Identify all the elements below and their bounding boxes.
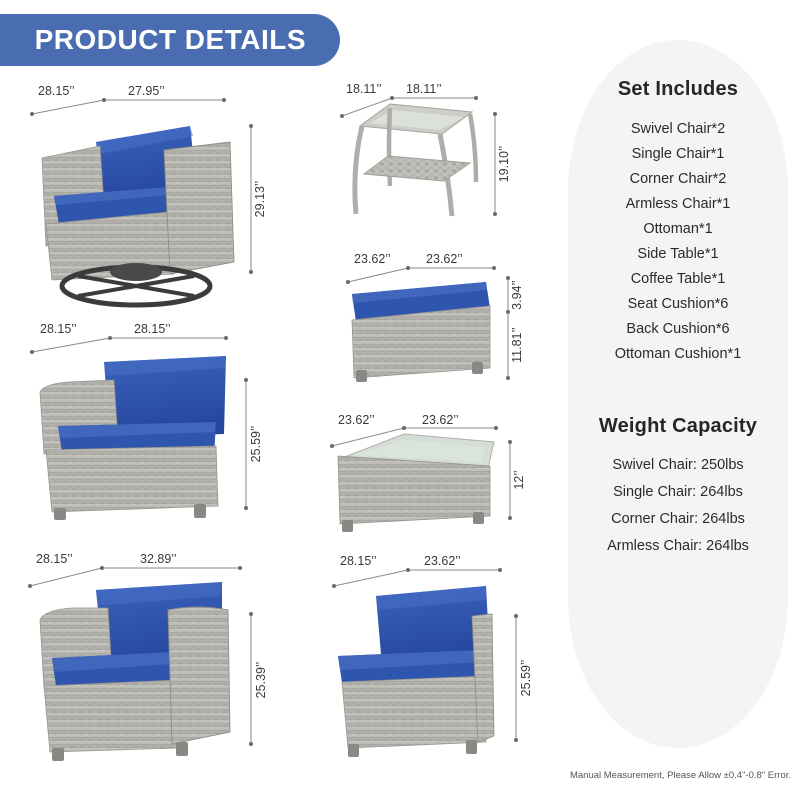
dimension-line-right xyxy=(514,614,518,742)
list-item: Corner Chair*2 xyxy=(578,167,778,192)
dim-label-depth: 28.15’’ xyxy=(36,552,73,566)
right-armrest xyxy=(164,142,234,274)
dim-label-depth: 28.15’’ xyxy=(40,322,77,336)
dim-label-cushion-height: 3.94’’ xyxy=(510,280,524,310)
dim-label-width: 27.95’’ xyxy=(128,84,165,98)
foot-right xyxy=(472,362,483,374)
list-item: Single Chair: 264lbs xyxy=(578,479,778,506)
table-body xyxy=(338,456,490,524)
dim-label-depth: 23.62’’ xyxy=(338,413,375,427)
foot-right xyxy=(194,504,206,518)
list-item: Side Table*1 xyxy=(578,242,778,267)
foot-left xyxy=(52,748,64,761)
page-header-banner: PRODUCT DETAILS xyxy=(0,14,340,66)
chair-base xyxy=(46,446,218,512)
dim-label-height: 29.13’’ xyxy=(253,181,267,218)
list-item: Armless Chair: 264lbs xyxy=(578,533,778,560)
dimension-line-right xyxy=(244,378,248,510)
foot-left xyxy=(54,508,66,520)
product-single-chair: 28.15’’ 32.89’’ 25.39’’ xyxy=(16,552,291,777)
dim-label-height: 25.59’’ xyxy=(249,426,263,463)
list-item: Corner Chair: 264lbs xyxy=(578,506,778,533)
dim-label-depth: 28.15’’ xyxy=(38,84,75,98)
right-armrest xyxy=(168,607,230,744)
dim-label-depth: 23.62’’ xyxy=(354,252,391,266)
list-item: Coffee Table*1 xyxy=(578,267,778,292)
dim-label-width: 32.89’’ xyxy=(140,552,177,566)
dimension-line-top xyxy=(332,568,502,588)
list-item: Ottoman Cushion*1 xyxy=(578,342,778,367)
info-panel: Set Includes Swivel Chair*2 Single Chair… xyxy=(568,40,788,748)
dim-label-width: 23.62’’ xyxy=(426,252,463,266)
dim-label-height: 25.39’’ xyxy=(254,662,268,699)
list-item: Armless Chair*1 xyxy=(578,192,778,217)
dimension-line-top xyxy=(346,266,496,284)
product-swivel-chair: 28.15’’ 27.95’’ 29.13’’ xyxy=(18,84,288,314)
dim-label-height: 19.10’’ xyxy=(497,146,511,183)
dimension-line-right xyxy=(249,612,253,746)
foot-right xyxy=(466,740,477,754)
product-side-table: 18.11’’ 18.11’’ 19.10’’ xyxy=(330,82,545,232)
page-title: PRODUCT DETAILS xyxy=(35,24,306,56)
list-item: Swivel Chair*2 xyxy=(578,117,778,142)
dim-label-height: 12’’ xyxy=(512,470,526,489)
foot-right xyxy=(176,742,188,756)
chair-base xyxy=(44,680,178,752)
list-item: Swivel Chair: 250lbs xyxy=(578,452,778,479)
list-item: Single Chair*1 xyxy=(578,142,778,167)
leg-front-left xyxy=(355,126,362,214)
dim-label-width: 23.62’’ xyxy=(422,413,459,427)
foot-left xyxy=(348,744,359,757)
set-includes-heading: Set Includes xyxy=(578,78,778,101)
product-illustrations-area: 28.15’’ 27.95’’ 29.13’’ xyxy=(0,72,556,800)
dim-label-height: 11.81’’ xyxy=(510,327,524,363)
dim-label-height: 25.59’’ xyxy=(519,660,533,697)
dim-label-width: 28.15’’ xyxy=(134,322,171,336)
lower-shelf xyxy=(364,156,470,181)
measurement-disclaimer: Manual Measurement, Please Allow ±0.4"-0… xyxy=(568,770,793,781)
leg-back-right xyxy=(470,114,476,182)
dim-label-depth: 18.11’’ xyxy=(346,82,382,96)
dimension-line-top xyxy=(30,98,226,116)
product-ottoman: 23.62’’ 23.62’’ 3.94’’ 11.81’’ xyxy=(330,250,545,400)
weight-capacity-list: Swivel Chair: 250lbs Single Chair: 264lb… xyxy=(578,452,778,560)
product-coffee-table: 23.62’’ 23.62’’ 12’’ xyxy=(318,412,543,552)
dim-label-width: 23.62’’ xyxy=(424,554,461,568)
foot-left xyxy=(356,370,367,382)
product-corner-chair: 28.15’’ 28.15’’ 25.59’’ xyxy=(18,322,288,537)
product-armless-chair: 28.15’’ 23.62’’ 25.59’’ xyxy=(320,552,550,777)
dimension-line-top xyxy=(30,336,228,354)
chair-base xyxy=(342,676,486,748)
panel-spacer xyxy=(578,367,778,415)
foot-left xyxy=(342,520,353,532)
dim-label-width: 18.11’’ xyxy=(406,82,442,96)
list-item: Seat Cushion*6 xyxy=(578,292,778,317)
list-item: Back Cushion*6 xyxy=(578,317,778,342)
list-item: Ottoman*1 xyxy=(578,217,778,242)
foot-right xyxy=(473,512,484,524)
weight-capacity-heading: Weight Capacity xyxy=(578,415,778,438)
set-includes-list: Swivel Chair*2 Single Chair*1 Corner Cha… xyxy=(578,117,778,367)
dim-label-depth: 28.15’’ xyxy=(340,554,377,568)
